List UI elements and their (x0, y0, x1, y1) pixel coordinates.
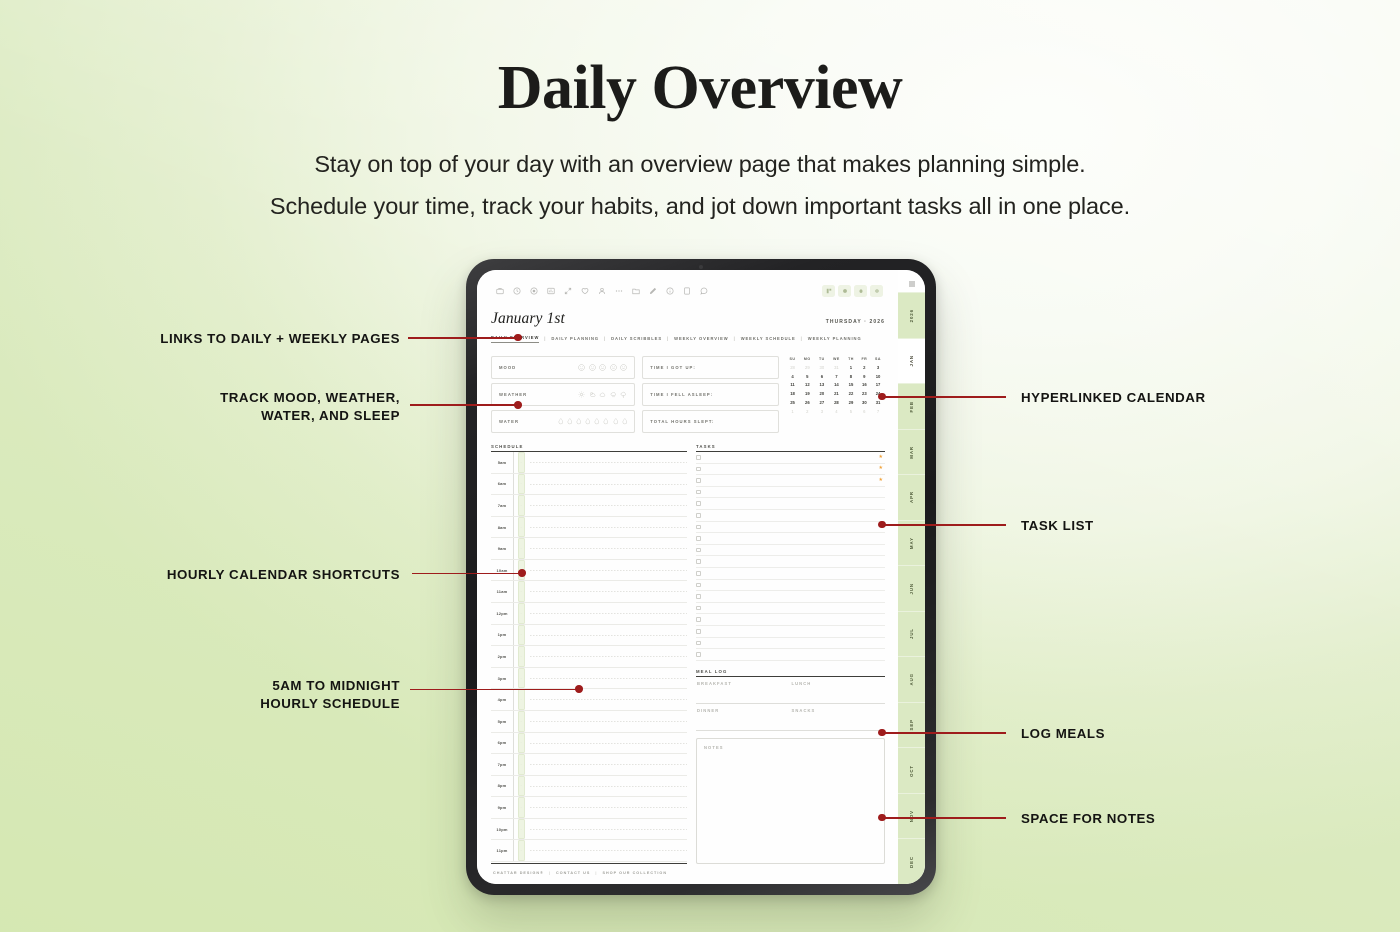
schedule-writing-line[interactable] (530, 570, 687, 571)
calendar-weekday-mo: MO (799, 357, 815, 364)
calendar-day[interactable]: 6 (858, 407, 871, 416)
schedule-row[interactable]: 8pm· (491, 776, 687, 798)
month-tab-label: JAN (909, 355, 914, 366)
task-checkbox[interactable] (696, 513, 701, 518)
task-row[interactable] (696, 649, 885, 661)
schedule-row[interactable]: 9pm· (491, 797, 687, 819)
tablet-screen: January 1st THURSDAY · 2026 DAILY OVERVI… (477, 270, 925, 884)
toolbar-right-group[interactable] (822, 285, 885, 297)
mood-great-icon[interactable] (578, 358, 585, 376)
task-checkbox[interactable] (696, 629, 701, 634)
task-row[interactable] (696, 545, 885, 557)
drop-icon[interactable] (622, 412, 628, 430)
briefcase-icon[interactable] (491, 285, 508, 297)
task-row[interactable] (696, 626, 885, 638)
month-tab-2026[interactable]: 2026 (898, 292, 925, 338)
calendar-day[interactable]: 28 (786, 364, 800, 373)
meal-row-1[interactable]: BREAKFAST LUNCH (696, 677, 885, 703)
notes-box[interactable]: NOTES (696, 738, 885, 864)
annotation-line-5am (410, 689, 580, 691)
field-time-i-fell-asleep[interactable]: TIME I FELL ASLEEP: (642, 383, 778, 406)
toolbar-icon-group[interactable] (491, 285, 712, 297)
field-time-i-got-up[interactable]: TIME I GOT UP: (642, 356, 778, 379)
apple-icon[interactable] (854, 285, 867, 297)
month-tab-label: JUN (909, 583, 914, 594)
schedule-writing-line[interactable] (530, 678, 687, 679)
calendar-day[interactable]: 9 (858, 372, 871, 381)
schedule-writing-line[interactable] (530, 613, 687, 614)
task-checkbox[interactable] (696, 490, 701, 495)
task-list[interactable]: ★★★ (696, 452, 885, 661)
hourly-calendar-shortcut[interactable]: · (518, 668, 525, 689)
calendar-day[interactable]: 26 (799, 399, 815, 408)
target-icon[interactable] (525, 285, 542, 297)
task-row[interactable] (696, 487, 885, 499)
calendar-day[interactable]: 23 (858, 390, 871, 399)
tracker-water[interactable]: WATER (491, 410, 635, 433)
drop-icon[interactable] (585, 412, 591, 430)
hourly-calendar-shortcut[interactable]: · (518, 646, 525, 667)
hourly-calendar-shortcut[interactable]: · (518, 517, 525, 538)
calendar-day[interactable]: 3 (815, 407, 828, 416)
hourly-calendar-shortcut[interactable]: · (518, 495, 525, 516)
calendar-day[interactable]: 31 (829, 364, 845, 373)
schedule-vertical-rule (513, 474, 514, 495)
calendar-day[interactable]: 13 (815, 381, 828, 390)
calendar-day[interactable]: 25 (786, 399, 800, 408)
schedule-writing-line[interactable] (530, 743, 687, 744)
pen-icon[interactable] (644, 285, 661, 297)
calendar-day[interactable]: 12 (799, 381, 815, 390)
task-checkbox[interactable] (696, 652, 701, 657)
schedule-vertical-rule (513, 711, 514, 732)
nav-link-weekly-schedule[interactable]: WEEKLY SCHEDULE (741, 336, 796, 341)
schedule-row[interactable]: 10pm· (491, 819, 687, 841)
schedule-vertical-rule (513, 840, 514, 861)
partly-cloudy-icon[interactable] (589, 385, 596, 403)
schedule-writing-line[interactable] (530, 829, 687, 830)
calendar-day[interactable]: 2 (799, 407, 815, 416)
schedule-vertical-rule (513, 538, 514, 559)
nav-separator: | (544, 336, 546, 341)
hourly-calendar-shortcut[interactable]: · (518, 538, 525, 559)
task-row[interactable] (696, 568, 885, 580)
month-tab-label: OCT (909, 765, 914, 777)
schedule-row[interactable]: 2pm· (491, 646, 687, 668)
schedule-hour-label: 6am (491, 481, 513, 486)
month-tab-may[interactable]: MAY (898, 520, 925, 566)
annotation-space-for-notes: SPACE FOR NOTES (1021, 810, 1351, 828)
calendar-day[interactable]: 14 (829, 381, 845, 390)
schedule-writing-line[interactable] (530, 807, 687, 808)
tracker-weather[interactable]: WEATHER (491, 383, 635, 406)
calendar-day[interactable]: 15 (844, 381, 857, 390)
task-checkbox[interactable] (696, 548, 701, 553)
hourly-calendar-shortcut[interactable]: · (518, 776, 525, 797)
month-tab-oct[interactable]: OCT (898, 747, 925, 793)
tracker-label-mood: MOOD (499, 365, 516, 370)
schedule-row[interactable]: 12pm· (491, 603, 687, 625)
page-header: Daily Overview Stay on top of your day w… (0, 0, 1400, 228)
task-row[interactable]: ★ (696, 452, 885, 464)
calendar-day[interactable]: 1 (786, 407, 800, 416)
calendar-day[interactable]: 22 (844, 390, 857, 399)
calendar-week-row: 28293031123 (786, 364, 885, 373)
task-row[interactable]: ★ (696, 475, 885, 487)
schedule-hour-label: 5pm (491, 719, 513, 724)
annotation-line-track (410, 404, 518, 406)
hourly-calendar-shortcut[interactable]: · (518, 711, 525, 732)
meal-divider-2 (696, 730, 885, 731)
schedule-title: SCHEDULE (491, 444, 687, 449)
meal-cell-lunch[interactable]: LUNCH (791, 677, 886, 703)
hourly-calendar-shortcut[interactable]: · (518, 625, 525, 646)
calendar-weekday-tu: TU (815, 357, 828, 364)
planner-nav-links[interactable]: DAILY OVERVIEW|DAILY PLANNING|DAILY SCRI… (491, 335, 885, 346)
hourly-calendar-shortcut[interactable]: · (518, 840, 525, 861)
task-row[interactable] (696, 522, 885, 534)
hourly-calendar-shortcut[interactable]: · (518, 819, 525, 840)
month-tab-sep[interactable]: SEP (898, 702, 925, 748)
notes-label: NOTES (704, 745, 877, 750)
schedule-row[interactable]: 11am· (491, 581, 687, 603)
calendar-day[interactable]: 28 (829, 399, 845, 408)
calendar-day[interactable]: 19 (799, 390, 815, 399)
tracker-icons-mood[interactable] (578, 358, 627, 376)
month-tab-aug[interactable]: AUG (898, 656, 925, 702)
schedule-writing-line[interactable] (530, 721, 687, 722)
drop-icon[interactable] (558, 412, 564, 430)
footer-link-contact-us[interactable]: CONTACT US (556, 871, 590, 875)
meal-label-breakfast: BREAKFAST (696, 677, 791, 686)
schedule-writing-line[interactable] (530, 850, 687, 851)
calendar-day[interactable]: 10 (871, 372, 885, 381)
task-checkbox[interactable] (696, 525, 701, 530)
meal-cell-snacks[interactable]: SNACKS (791, 704, 886, 730)
annotation-dot-meals (878, 729, 886, 737)
task-checkbox[interactable] (696, 478, 701, 483)
schedule-vertical-rule (513, 754, 514, 775)
schedule-row[interactable]: 11pm· (491, 840, 687, 862)
mood-neutral-icon[interactable] (599, 358, 606, 376)
meal-label-lunch: LUNCH (791, 677, 886, 686)
month-tab-label: APR (909, 491, 914, 503)
schedule-writing-line[interactable] (530, 505, 687, 506)
field-total-hours-slept[interactable]: TOTAL HOURS SLEPT: (642, 410, 778, 433)
task-checkbox[interactable] (696, 536, 701, 541)
annotation-dot-notes (878, 814, 886, 822)
month-tab-label: 2026 (909, 309, 914, 322)
annotation-dot-tasks (878, 521, 886, 529)
schedule-writing-line[interactable] (530, 591, 687, 592)
schedule-hour-label: 3pm (491, 676, 513, 681)
annotation-dot-5am (575, 685, 583, 693)
drop-icon[interactable] (594, 412, 600, 430)
schedule-hour-label: 7am (491, 503, 513, 508)
schedule-row[interactable]: 6pm· (491, 733, 687, 755)
subtitle-line-2: Schedule your time, track your habits, a… (0, 186, 1400, 228)
schedule-row[interactable]: 1pm· (491, 625, 687, 647)
schedule-row[interactable]: 6am· (491, 474, 687, 496)
calendar-day[interactable]: 20 (815, 390, 828, 399)
schedule-hour-label: 8am (491, 525, 513, 530)
task-checkbox[interactable] (696, 617, 701, 622)
more-icon[interactable] (610, 285, 627, 297)
cloud-icon[interactable] (599, 385, 606, 403)
star-icon[interactable]: ★ (879, 455, 885, 460)
month-tab-label: SEP (909, 719, 914, 731)
task-checkbox[interactable] (696, 501, 701, 506)
schedule-writing-line[interactable] (530, 699, 687, 700)
footer-separator: | (595, 871, 597, 875)
nav-link-weekly-overview[interactable]: WEEKLY OVERVIEW (674, 336, 728, 341)
task-row[interactable] (696, 638, 885, 650)
task-row[interactable] (696, 580, 885, 592)
schedule-hour-label: 11am (491, 589, 513, 594)
schedule-column: SCHEDULE 5am·6am·7am·8am·9am·10am·11am·1… (491, 444, 687, 865)
menu-icon[interactable] (898, 276, 925, 292)
schedule-row[interactable]: 8am· (491, 517, 687, 539)
person-icon[interactable] (593, 285, 610, 297)
calendar-day[interactable]: 1 (844, 364, 857, 373)
footer-separator: | (549, 871, 551, 875)
schedule-hour-label: 6pm (491, 740, 513, 745)
calendar-day[interactable]: 18 (786, 390, 800, 399)
annotation-hourly-label: HOURLY CALENDAR SHORTCUTS (167, 567, 400, 582)
rain-icon[interactable] (610, 385, 617, 403)
nav-separator: | (801, 336, 803, 341)
schedule-row[interactable]: 4pm· (491, 689, 687, 711)
drop-icon[interactable] (613, 412, 619, 430)
schedule-hour-label: 8pm (491, 783, 513, 788)
planner-page-footer[interactable]: CHATTAR DESIGN®|CONTACT US|SHOP OUR COLL… (491, 864, 885, 884)
schedule-row[interactable]: 5am· (491, 452, 687, 474)
hyperlinked-calendar[interactable]: SUMOTUWETHFRSA 2829303112345678910111213… (786, 356, 885, 433)
calendar-day[interactable]: 5 (799, 372, 815, 381)
expand-icon[interactable] (559, 285, 576, 297)
clock-icon[interactable] (508, 285, 525, 297)
hourly-calendar-shortcut[interactable]: · (518, 754, 525, 775)
calendar-weekday-sa: SA (871, 357, 885, 364)
calendar-day[interactable]: 31 (871, 399, 885, 408)
schedule-vertical-rule (513, 797, 514, 818)
calendar-day[interactable]: 29 (844, 399, 857, 408)
month-tab-label: AUG (909, 673, 914, 685)
month-tab-dec[interactable]: DEC (898, 838, 925, 884)
heart-icon[interactable] (576, 285, 593, 297)
grid-icon[interactable] (822, 285, 835, 297)
schedule-writing-line[interactable] (530, 764, 687, 765)
month-tab-jul[interactable]: JUL (898, 611, 925, 657)
drop-icon[interactable] (603, 412, 609, 430)
calendar-day[interactable]: 7 (829, 372, 845, 381)
schedule-row[interactable]: 7pm· (491, 754, 687, 776)
calendar-day[interactable]: 29 (799, 364, 815, 373)
schedule-row[interactable]: 5pm· (491, 711, 687, 733)
meal-label-snacks: SNACKS (791, 704, 886, 713)
schedule-row[interactable]: 7am· (491, 495, 687, 517)
calendar-day[interactable]: 27 (815, 399, 828, 408)
month-tab-label: DEC (909, 856, 914, 868)
calendar-day[interactable]: 30 (858, 399, 871, 408)
calendar-day[interactable]: 5 (844, 407, 857, 416)
task-checkbox[interactable] (696, 641, 701, 646)
circle-icon[interactable] (838, 285, 851, 297)
schedule-vertical-rule (513, 668, 514, 689)
schedule-vertical-rule (513, 560, 514, 581)
task-row[interactable]: ★ (696, 464, 885, 476)
schedule-writing-line[interactable] (530, 527, 687, 528)
footer-link-shop-our-collection[interactable]: SHOP OUR COLLECTION (603, 871, 668, 875)
month-tab-mar[interactable]: MAR (898, 429, 925, 475)
task-row[interactable] (696, 556, 885, 568)
task-row[interactable] (696, 603, 885, 615)
field-label-time-i-got-up: TIME I GOT UP: (650, 365, 696, 370)
schedule-writing-line[interactable] (530, 548, 687, 549)
hourly-calendar-shortcut[interactable]: · (518, 797, 525, 818)
task-row[interactable] (696, 498, 885, 510)
task-row[interactable] (696, 614, 885, 626)
annotation-track-line1: TRACK MOOD, WEATHER, (60, 389, 400, 407)
month-tab-jan[interactable]: JAN (898, 338, 925, 384)
storm-icon[interactable] (620, 385, 627, 403)
page-subtitle: Stay on top of your day with an overview… (0, 144, 1400, 228)
gear-icon[interactable] (870, 285, 883, 297)
schedule-writing-line[interactable] (530, 484, 687, 485)
trackers-mid-column: TIME I GOT UP:TIME I FELL ASLEEP:TOTAL H… (642, 356, 778, 433)
folder-icon[interactable] (627, 285, 644, 297)
comment-icon[interactable] (695, 285, 712, 297)
calendar-day[interactable]: 4 (786, 372, 800, 381)
sun-icon[interactable] (578, 385, 585, 403)
calendar-week-row: 45678910 (786, 372, 885, 381)
annotation-dot-links (514, 334, 522, 342)
schedule-vertical-rule (513, 689, 514, 710)
calendar-table[interactable]: SUMOTUWETHFRSA 2829303112345678910111213… (786, 357, 885, 417)
star-icon[interactable]: ★ (879, 478, 885, 483)
schedule-writing-line[interactable] (530, 462, 687, 463)
mood-good-icon[interactable] (589, 358, 596, 376)
month-tab-feb[interactable]: FEB (898, 383, 925, 429)
calendar-header-row: SUMOTUWETHFRSA (786, 357, 885, 364)
annotation-5am-line1: 5AM TO MIDNIGHT (60, 677, 400, 695)
calendar-day[interactable]: 30 (815, 364, 828, 373)
schedule-writing-line[interactable] (530, 786, 687, 787)
month-tab-label: MAR (909, 446, 914, 459)
calendar-day[interactable]: 8 (844, 372, 857, 381)
meal-row-2[interactable]: DINNER SNACKS (696, 704, 885, 730)
task-checkbox[interactable] (696, 583, 701, 588)
annotation-track-mood: TRACK MOOD, WEATHER, WATER, AND SLEEP (60, 389, 400, 424)
schedule-hour-label: 12pm (491, 611, 513, 616)
hourly-calendar-shortcut[interactable]: · (518, 474, 525, 495)
schedule-hour-label: 5am (491, 460, 513, 465)
mood-awful-icon[interactable] (620, 358, 627, 376)
annotation-log-meals: LOG MEALS (1021, 725, 1351, 743)
tracker-icons-weather[interactable] (578, 385, 627, 403)
annotation-line-calendar (884, 396, 1006, 398)
month-tab-apr[interactable]: APR (898, 474, 925, 520)
annotation-dot-track (514, 401, 522, 409)
calendar-day[interactable]: 11 (786, 381, 800, 390)
calendar-day[interactable]: 6 (815, 372, 828, 381)
tracker-mood[interactable]: MOOD (491, 356, 635, 379)
nav-separator: | (734, 336, 736, 341)
task-checkbox[interactable] (696, 455, 701, 460)
hourly-calendar-shortcut[interactable]: · (518, 452, 525, 473)
month-tab-jun[interactable]: JUN (898, 565, 925, 611)
hourly-calendar-shortcut[interactable]: · (518, 733, 525, 754)
schedule-rows[interactable]: 5am·6am·7am·8am·9am·10am·11am·12pm·1pm·2… (491, 452, 687, 862)
meal-cell-breakfast[interactable]: BREAKFAST (696, 677, 791, 703)
tasks-title: TASKS (696, 444, 885, 449)
calendar-day[interactable]: 21 (829, 390, 845, 399)
hourly-calendar-shortcut[interactable]: · (518, 603, 525, 624)
calendar-day[interactable]: 4 (829, 407, 845, 416)
task-row[interactable] (696, 591, 885, 603)
meal-cell-dinner[interactable]: DINNER (696, 704, 791, 730)
annotation-dot-calendar (878, 393, 886, 401)
hourly-calendar-shortcut[interactable]: · (518, 689, 525, 710)
nav-link-daily-scribbles[interactable]: DAILY SCRIBBLES (611, 336, 662, 341)
task-checkbox[interactable] (696, 571, 701, 576)
star-icon[interactable]: ★ (879, 466, 885, 471)
annotation-links-label: LINKS TO DAILY + WEEKLY PAGES (160, 331, 400, 346)
calendar-week-row: 18192021222324 (786, 390, 885, 399)
footer-link-chattar-design[interactable]: CHATTAR DESIGN® (493, 871, 544, 875)
app-toolbar[interactable] (491, 283, 885, 299)
task-checkbox[interactable] (696, 606, 701, 611)
calendar-weekday-su: SU (786, 357, 800, 364)
task-checkbox[interactable] (696, 559, 701, 564)
info-icon[interactable] (661, 285, 678, 297)
calendar-day[interactable]: 16 (858, 381, 871, 390)
schedule-writing-line[interactable] (530, 635, 687, 636)
calendar-day[interactable]: 3 (871, 364, 885, 373)
tracker-icons-water[interactable] (558, 412, 627, 430)
right-column: TASKS ★★★ MEAL LOG BREAKFAST LUNCH (696, 444, 885, 865)
calendar-day[interactable]: 17 (871, 381, 885, 390)
calendar-week-row: 11121314151617 (786, 381, 885, 390)
drop-icon[interactable] (567, 412, 573, 430)
chart-icon[interactable] (542, 285, 559, 297)
mood-sad-icon[interactable] (610, 358, 617, 376)
nav-link-daily-planning[interactable]: DAILY PLANNING (551, 336, 599, 341)
task-row[interactable] (696, 533, 885, 545)
hourly-calendar-shortcut[interactable]: · (518, 581, 525, 602)
schedule-vertical-rule (513, 452, 514, 473)
calendar-day[interactable]: 2 (858, 364, 871, 373)
schedule-hour-label: 9pm (491, 805, 513, 810)
tracker-label-water: WATER (499, 419, 519, 424)
calendar-weekday-th: TH (844, 357, 857, 364)
drop-icon[interactable] (576, 412, 582, 430)
month-sidebar[interactable]: 2026JANFEBMARAPRMAYJUNJULAUGSEPOCTNOVDEC (898, 270, 925, 884)
task-checkbox[interactable] (696, 594, 701, 599)
schedule-writing-line[interactable] (530, 656, 687, 657)
task-checkbox[interactable] (696, 467, 701, 472)
nav-link-weekly-planning[interactable]: WEEKLY PLANNING (808, 336, 862, 341)
month-tab-nov[interactable]: NOV (898, 793, 925, 839)
schedule-row[interactable]: 9am· (491, 538, 687, 560)
note-icon[interactable] (678, 285, 695, 297)
calendar-day[interactable]: 7 (871, 407, 885, 416)
annotation-track-line2: WATER, AND SLEEP (60, 407, 400, 425)
schedule-vertical-rule (513, 625, 514, 646)
schedule-row[interactable]: 3pm· (491, 668, 687, 690)
schedule-vertical-rule (513, 776, 514, 797)
task-row[interactable] (696, 510, 885, 522)
